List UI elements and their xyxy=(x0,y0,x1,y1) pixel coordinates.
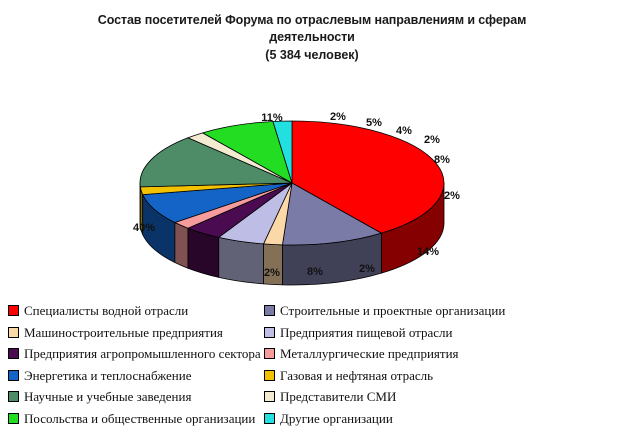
legend-color-swatch xyxy=(8,305,19,316)
legend-color-swatch xyxy=(264,413,275,424)
legend-item-label: Предприятия пищевой отрасли xyxy=(280,326,452,339)
legend-color-swatch xyxy=(8,348,19,359)
legend-item[interactable]: Металлургические предприятия xyxy=(264,343,614,365)
legend-item-label: Представители СМИ xyxy=(280,390,396,403)
legend-color-swatch xyxy=(264,305,275,316)
legend-item-label: Научные и учебные заведения xyxy=(24,390,191,403)
chart-subtitle-total: (5 384 человек) xyxy=(0,46,624,65)
legend-item-label: Посольства и общественные организации xyxy=(24,412,255,425)
legend-color-swatch xyxy=(8,413,19,424)
legend-color-swatch xyxy=(264,370,275,381)
legend-color-swatch xyxy=(264,327,275,338)
legend-item-label: Строительные и проектные организации xyxy=(280,304,505,317)
legend-item[interactable]: Представители СМИ xyxy=(264,386,614,408)
pie-slice-percent-label: 2% xyxy=(264,267,280,279)
legend-item-label: Специалисты водной отрасли xyxy=(24,304,188,317)
legend-column-right: Строительные и проектные организацииПред… xyxy=(264,300,614,429)
pie-slice-percent-label: 5% xyxy=(366,117,382,129)
legend-item-label: Энергетика и теплоснабжение xyxy=(24,369,192,382)
chart-legend: Специалисты водной отраслиМашиностроител… xyxy=(0,300,624,436)
pie-slice-percent-label: 4% xyxy=(396,125,412,137)
legend-item-label: Другие организации xyxy=(280,412,393,425)
pie-slice-percent-label: 2% xyxy=(330,111,346,123)
legend-item[interactable]: Научные и учебные заведения xyxy=(8,386,263,408)
legend-item[interactable]: Газовая и нефтяная отрасль xyxy=(264,365,614,387)
chart-title-line-2: деятельности xyxy=(0,29,624,46)
pie-slice-percent-label: 40% xyxy=(133,222,155,234)
pie-svg xyxy=(0,88,624,293)
pie-plot-area: 11%2%5%4%2%8%2%14%2%8%2%40% xyxy=(0,88,624,293)
legend-color-swatch xyxy=(264,348,275,359)
legend-item[interactable]: Машиностроительные предприятия xyxy=(8,322,263,344)
legend-item-label: Газовая и нефтяная отрасль xyxy=(280,369,433,382)
legend-item[interactable]: Посольства и общественные организации xyxy=(8,408,263,430)
legend-column-left: Специалисты водной отраслиМашиностроител… xyxy=(8,300,263,429)
legend-item[interactable]: Специалисты водной отрасли xyxy=(8,300,263,322)
pie-slice-percent-label: 2% xyxy=(359,263,375,275)
legend-item-label: Металлургические предприятия xyxy=(280,347,459,360)
legend-item[interactable]: Предприятия агропромышленного сектора xyxy=(8,343,263,365)
pie-slice[interactable] xyxy=(175,223,188,269)
pie-slice-percent-label: 2% xyxy=(424,134,440,146)
pie-chart-figure: Состав посетителей Форума по отраслевым … xyxy=(0,0,624,440)
chart-title-line-1: Состав посетителей Форума по отраслевым … xyxy=(0,12,624,29)
legend-item[interactable]: Другие организации xyxy=(264,408,614,430)
pie-slice-percent-label: 11% xyxy=(261,112,282,124)
legend-item-label: Предприятия агропромышленного сектора xyxy=(24,347,261,360)
legend-color-swatch xyxy=(8,327,19,338)
legend-item[interactable]: Предприятия пищевой отрасли xyxy=(264,322,614,344)
legend-color-swatch xyxy=(8,370,19,381)
legend-color-swatch xyxy=(264,391,275,402)
legend-item[interactable]: Энергетика и теплоснабжение xyxy=(8,365,263,387)
pie-slice-percent-label: 8% xyxy=(307,266,323,278)
legend-item-label: Машиностроительные предприятия xyxy=(24,326,223,339)
legend-item[interactable]: Строительные и проектные организации xyxy=(264,300,614,322)
chart-title-block: Состав посетителей Форума по отраслевым … xyxy=(0,12,624,65)
pie-slice-percent-label: 14% xyxy=(417,246,439,258)
pie-slice-percent-label: 8% xyxy=(434,154,450,166)
pie-slice[interactable] xyxy=(219,237,264,284)
legend-color-swatch xyxy=(8,391,19,402)
pie-slice-percent-label: 2% xyxy=(444,190,460,202)
